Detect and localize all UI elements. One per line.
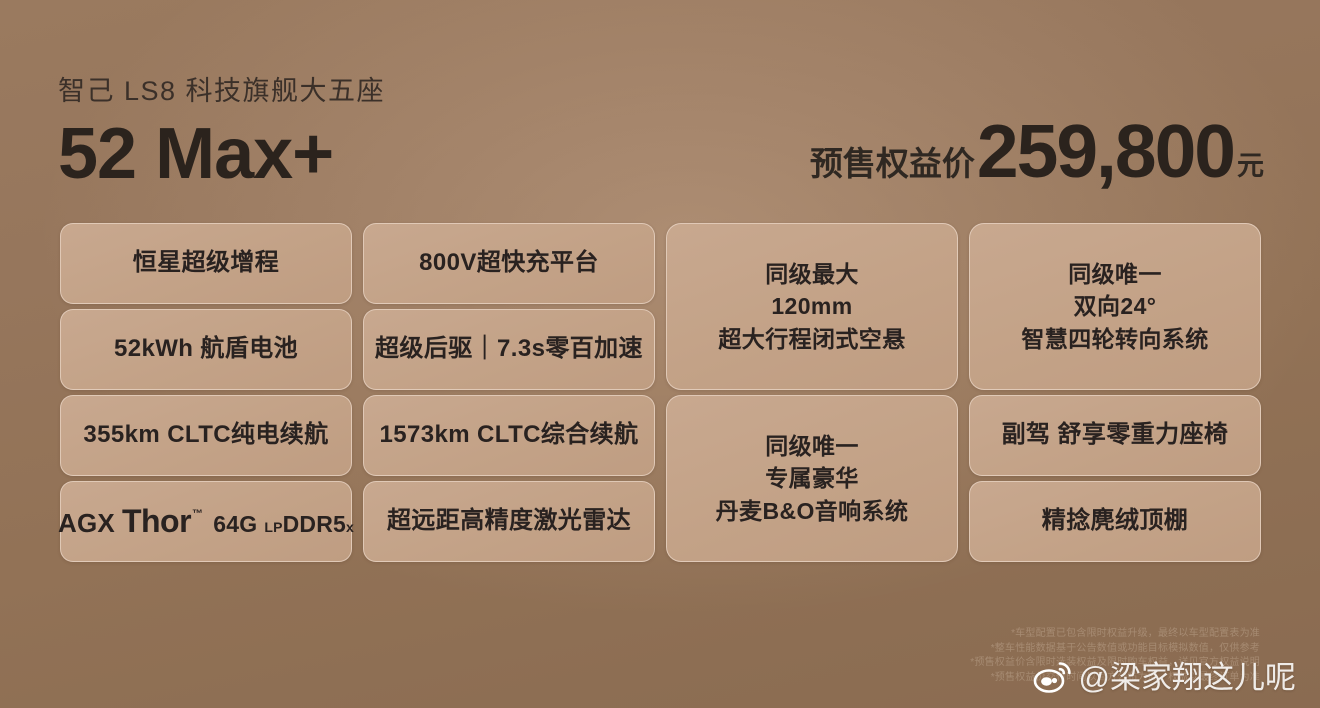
model-line: 智己 LS8 科技旗舰大五座 [58,78,1264,105]
trademark-symbol: ™ [192,508,203,520]
trim-name: 52 Max+ [58,118,333,190]
footnote-line: *车型配置已包含限时权益升级，最终以车型配置表为准 [700,627,1260,642]
watermark: @梁家翔这儿呢 [1033,660,1296,694]
feature-card-battery: 52kWh 航盾电池 [60,309,352,390]
feature-card-label: 精捻麂绒顶棚 [1042,505,1188,537]
feature-card-powertrain: 恒星超级增程 [60,223,352,304]
feature-card-label: 超级后驱｜7.3s零百加速 [375,333,643,365]
weibo-icon [1033,660,1073,694]
feature-card-suspension: 同级最大 120mm 超大行程闭式空悬 [666,223,958,390]
memory-type-suffix: x [346,519,354,535]
chip-name: Thor [122,503,191,540]
feature-card-label: 同级唯一 专属豪华 丹麦B&O音响系统 [716,430,909,528]
memory-type: DDR5 [283,511,346,538]
feature-card-charging: 800V超快充平台 [363,223,655,304]
feature-card-four-wheel-steering: 同级唯一 双向24° 智慧四轮转向系统 [969,223,1261,390]
price-value: 259,800 [977,114,1234,189]
feature-card-label: 副驾 舒享零重力座椅 [1002,419,1229,451]
feature-card-audio: 同级唯一 专属豪华 丹麦B&O音响系统 [666,395,958,562]
feature-card-label: 355km CLTC纯电续航 [83,419,328,451]
chip-vendor-prefix: AGX [58,508,115,539]
feature-card-label: 超远距高精度激光雷达 [387,505,631,537]
feature-card-ev-range: 355km CLTC纯电续航 [60,395,352,476]
feature-card-acceleration: 超级后驱｜7.3s零百加速 [363,309,655,390]
feature-card-label: 1573km CLTC综合续航 [380,419,639,451]
feature-card-label: AGX Thor ™ 64G LP DDR5 x [58,503,354,540]
feature-card-label: 同级唯一 双向24° 智慧四轮转向系统 [1021,258,1208,356]
feature-card-label: 800V超快充平台 [419,247,599,279]
price-block: 预售权益价 259,800 元 [810,114,1264,189]
watermark-handle: @梁家翔这儿呢 [1079,662,1296,693]
trim-and-price-row: 52 Max+ 预售权益价 259,800 元 [58,114,1264,206]
footnote-line: *整车性能数据基于公告数值或功能目标模拟数值，仅供参考 [700,642,1260,657]
feature-card-zero-gravity-seat: 副驾 舒享零重力座椅 [969,395,1261,476]
feature-card-compute-chip: AGX Thor ™ 64G LP DDR5 x [60,481,352,562]
poster-header: 智己 LS8 科技旗舰大五座 52 Max+ 预售权益价 259,800 元 [58,78,1264,206]
feature-card-total-range: 1573km CLTC综合续航 [363,395,655,476]
feature-card-label: 恒星超级增程 [133,247,279,279]
chip-memory-size: 64G [213,511,257,538]
feature-card-label: 52kWh 航盾电池 [114,333,298,365]
feature-card-suede-headliner: 精捻麂绒顶棚 [969,481,1261,562]
price-label: 预售权益价 [810,137,975,185]
feature-grid: 恒星超级增程 800V超快充平台 同级最大 120mm 超大行程闭式空悬 同级唯… [60,223,1262,562]
promo-poster: 智己 LS8 科技旗舰大五座 52 Max+ 预售权益价 259,800 元 恒… [0,0,1320,708]
feature-card-lidar: 超远距高精度激光雷达 [363,481,655,562]
memory-type-prefix: LP [264,519,282,535]
feature-card-label: 同级最大 120mm 超大行程闭式空悬 [718,258,905,356]
price-currency-unit: 元 [1237,144,1264,183]
